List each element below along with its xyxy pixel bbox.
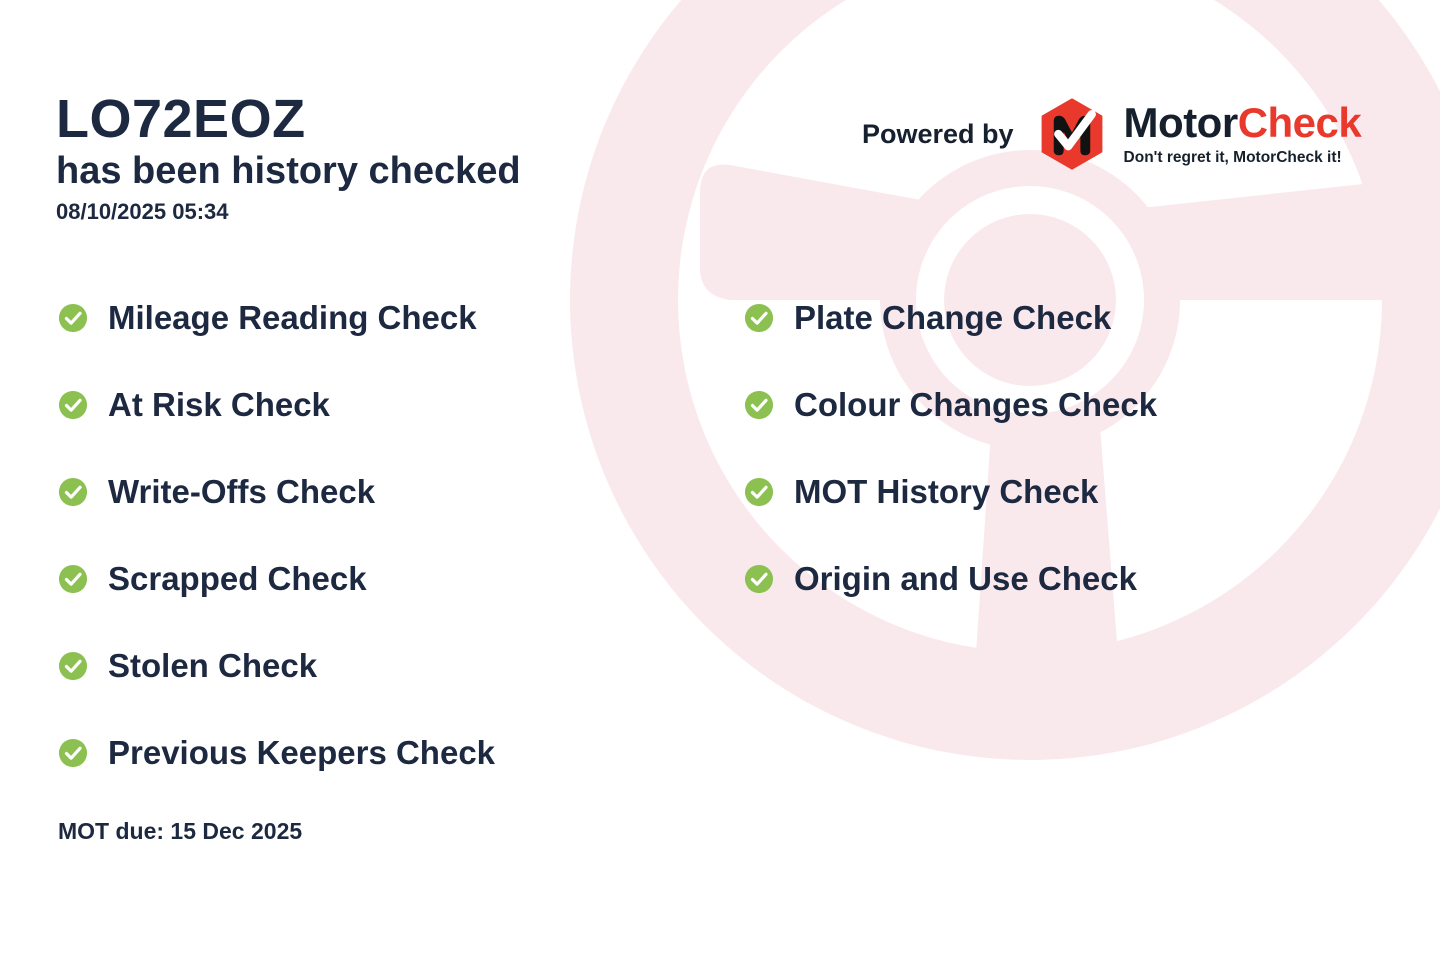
brand-tagline: Don't regret it, MotorCheck it!: [1124, 149, 1362, 166]
motorcheck-wordmark-block: MotorCheck Don't regret it, MotorCheck i…: [1124, 102, 1362, 166]
check-list-item: Previous Keepers Check: [58, 731, 495, 775]
check-list-item: Write-Offs Check: [58, 470, 495, 514]
check-circle-icon: [744, 564, 774, 594]
check-label: Origin and Use Check: [794, 562, 1137, 597]
check-label: Stolen Check: [108, 649, 317, 684]
wordmark-motor: Motor: [1124, 99, 1238, 146]
check-circle-icon: [744, 477, 774, 507]
check-list-item: Origin and Use Check: [744, 557, 1157, 601]
check-list-right: Plate Change Check Colour Changes Check …: [744, 296, 1157, 644]
check-circle-icon: [58, 738, 88, 768]
wordmark-check: Check: [1238, 99, 1362, 146]
check-label: Mileage Reading Check: [108, 301, 477, 336]
check-circle-icon: [744, 303, 774, 333]
powered-by-label: Powered by: [862, 119, 1014, 150]
history-check-card: LO72EOZ has been history checked 08/10/2…: [0, 0, 1440, 960]
header-block: LO72EOZ has been history checked 08/10/2…: [56, 92, 521, 224]
check-label: At Risk Check: [108, 388, 330, 423]
check-circle-icon: [58, 390, 88, 420]
check-list-item: Plate Change Check: [744, 296, 1157, 340]
check-label: Write-Offs Check: [108, 475, 375, 510]
check-label: Scrapped Check: [108, 562, 367, 597]
check-circle-icon: [744, 390, 774, 420]
check-label: Colour Changes Check: [794, 388, 1157, 423]
motorcheck-wordmark: MotorCheck: [1124, 102, 1362, 144]
check-circle-icon: [58, 477, 88, 507]
check-list-left: Mileage Reading Check At Risk Check Writ…: [58, 296, 495, 818]
check-circle-icon: [58, 651, 88, 681]
check-label: MOT History Check: [794, 475, 1098, 510]
check-list-item: At Risk Check: [58, 383, 495, 427]
brand-lockup: Powered by MotorCheck Don't regret it, M…: [862, 96, 1361, 172]
check-list-item: Mileage Reading Check: [58, 296, 495, 340]
check-list-item: Scrapped Check: [58, 557, 495, 601]
check-list-item: MOT History Check: [744, 470, 1157, 514]
check-circle-icon: [58, 303, 88, 333]
check-label: Previous Keepers Check: [108, 736, 495, 771]
status-line: has been history checked: [56, 152, 521, 192]
motorcheck-hexagon-logo: [1034, 96, 1110, 172]
check-timestamp: 08/10/2025 05:34: [56, 200, 521, 224]
check-list-item: Stolen Check: [58, 644, 495, 688]
mot-due-text: MOT due: 15 Dec 2025: [58, 818, 302, 845]
check-list-item: Colour Changes Check: [744, 383, 1157, 427]
check-circle-icon: [58, 564, 88, 594]
check-label: Plate Change Check: [794, 301, 1111, 336]
registration-plate: LO72EOZ: [56, 92, 521, 146]
